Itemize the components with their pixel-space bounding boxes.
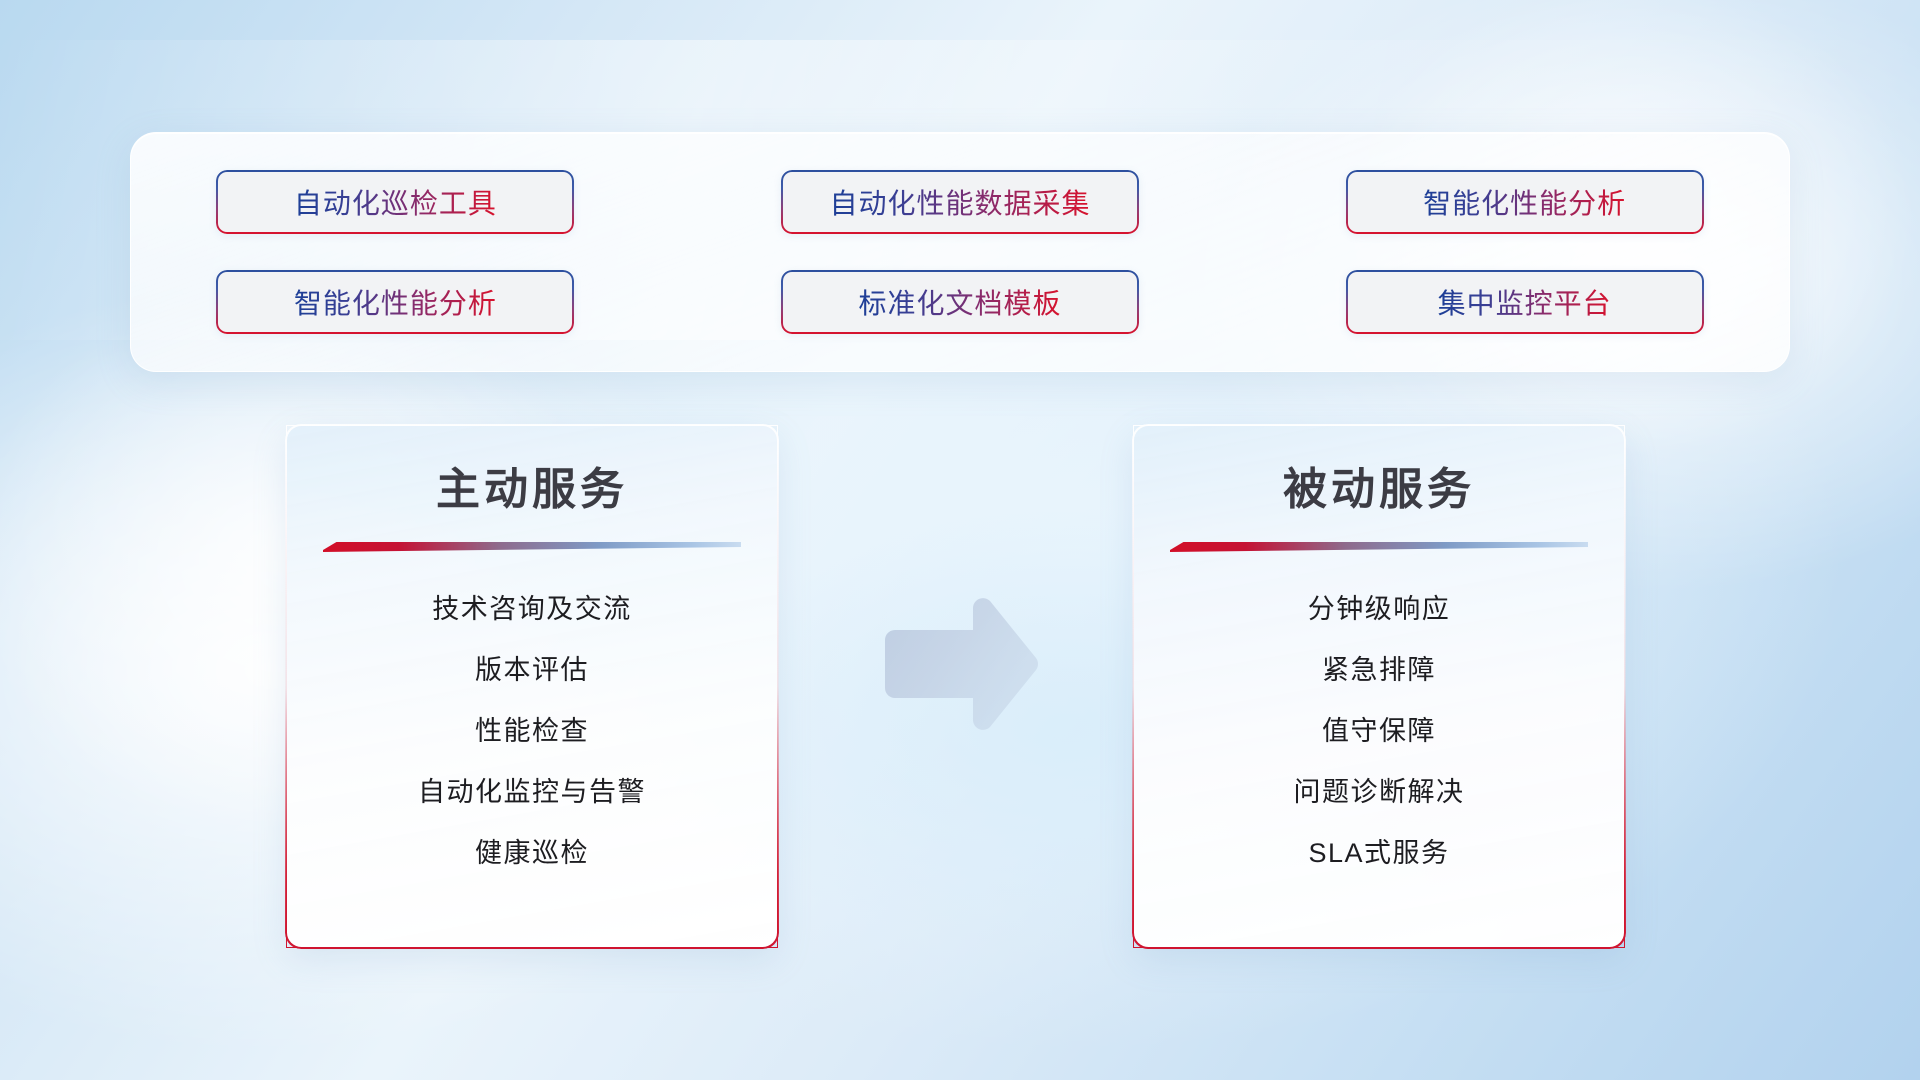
card-title-underline	[1170, 539, 1588, 553]
list-item: SLA式服务	[1162, 823, 1596, 884]
tag-cell: 标准化文档模板	[748, 267, 1173, 337]
capability-tag-3[interactable]: 智能化性能分析	[216, 270, 574, 334]
capability-tag-label: 智能化性能分析	[1423, 182, 1626, 222]
list-item: 紧急排障	[1162, 640, 1596, 701]
capability-tag-label: 自动化巡检工具	[294, 182, 497, 222]
service-card-passive[interactable]: 被动服务	[1133, 425, 1625, 948]
service-list-active: 技术咨询及交流 版本评估 性能检查 自动化监控与告警 健康巡检	[315, 579, 749, 884]
capability-tag-2[interactable]: 智能化性能分析	[1346, 170, 1704, 234]
card-title-passive: 被动服务	[1162, 462, 1596, 517]
capability-tag-0[interactable]: 自动化巡检工具	[216, 170, 574, 234]
capability-tag-4[interactable]: 标准化文档模板	[781, 270, 1139, 334]
list-item: 健康巡检	[315, 823, 749, 884]
capability-tag-grid: 自动化巡检工具 自动化性能数据采集 智能化性能分析 智能化性能分析	[183, 167, 1737, 337]
list-item: 性能检查	[315, 701, 749, 762]
capability-tag-1[interactable]: 自动化性能数据采集	[781, 170, 1139, 234]
capability-tag-label: 自动化性能数据采集	[829, 182, 1090, 222]
list-item: 分钟级响应	[1162, 579, 1596, 640]
list-item: 值守保障	[1162, 701, 1596, 762]
capability-tag-5[interactable]: 集中监控平台	[1346, 270, 1704, 334]
tag-cell: 智能化性能分析	[1312, 167, 1737, 237]
capability-tag-label: 标准化文档模板	[858, 282, 1061, 322]
capability-tags-panel: 自动化巡检工具 自动化性能数据采集 智能化性能分析 智能化性能分析	[130, 132, 1790, 372]
right-arrow-icon	[879, 598, 1041, 746]
list-item: 技术咨询及交流	[315, 579, 749, 640]
service-card-active[interactable]: 主动服务	[286, 425, 778, 948]
list-item: 问题诊断解决	[1162, 762, 1596, 823]
card-title-active: 主动服务	[315, 462, 749, 517]
capability-tag-label: 智能化性能分析	[294, 282, 497, 322]
service-list-passive: 分钟级响应 紧急排障 值守保障 问题诊断解决 SLA式服务	[1162, 579, 1596, 884]
capability-tag-label: 集中监控平台	[1438, 282, 1612, 322]
slide-canvas: 自动化巡检工具 自动化性能数据采集 智能化性能分析 智能化性能分析	[0, 0, 1920, 1080]
tag-cell: 自动化巡检工具	[183, 167, 608, 237]
card-title-underline	[323, 539, 741, 553]
tag-cell: 智能化性能分析	[183, 267, 608, 337]
tag-cell: 自动化性能数据采集	[748, 167, 1173, 237]
list-item: 自动化监控与告警	[315, 762, 749, 823]
list-item: 版本评估	[315, 640, 749, 701]
tag-cell: 集中监控平台	[1312, 267, 1737, 337]
